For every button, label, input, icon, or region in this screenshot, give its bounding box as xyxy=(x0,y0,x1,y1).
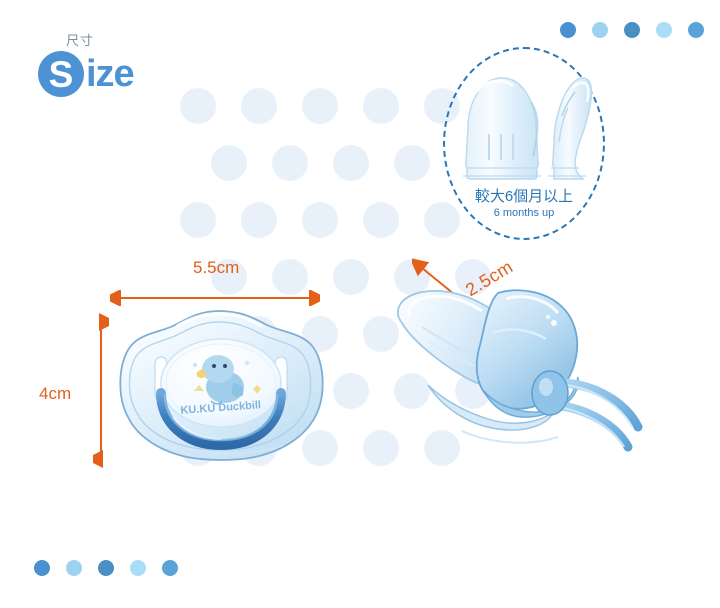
title-text: ize xyxy=(86,55,134,93)
background-dot xyxy=(333,373,369,409)
background-dot xyxy=(394,145,430,181)
decorative-dot-bottom-5 xyxy=(162,560,178,576)
decorative-dot-top-5 xyxy=(688,22,704,38)
background-dot xyxy=(363,88,399,124)
background-dot xyxy=(211,145,247,181)
decorative-dot-top-3 xyxy=(624,22,640,38)
decorative-dot-top-4 xyxy=(656,22,672,38)
pacifier-side-view xyxy=(388,265,648,490)
background-dot xyxy=(363,202,399,238)
dimension-label-width: 5.5cm xyxy=(193,258,239,278)
decorative-dot-bottom-2 xyxy=(66,560,82,576)
background-dot xyxy=(241,202,277,238)
nipple-duckbill-silhouette xyxy=(548,78,592,179)
background-dot xyxy=(424,202,460,238)
decorative-dot-bottom-4 xyxy=(130,560,146,576)
background-dot xyxy=(272,145,308,181)
background-dot xyxy=(333,145,369,181)
page-title: S ize xyxy=(38,51,134,97)
decorative-dot-top-2 xyxy=(592,22,608,38)
nipple-round-silhouette xyxy=(463,78,541,179)
decorative-dot-bottom-1 xyxy=(34,560,50,576)
background-dot xyxy=(241,88,277,124)
background-dot xyxy=(180,88,216,124)
title-letter-badge: S xyxy=(38,51,84,97)
background-dot xyxy=(302,88,338,124)
background-dot xyxy=(333,259,369,295)
background-dot xyxy=(180,202,216,238)
dimension-arrow-height xyxy=(93,313,109,468)
page-title-block: 尺寸 S ize xyxy=(38,34,134,97)
pacifier-front-view: KU.KU Duckbill xyxy=(115,305,330,485)
decorative-dots-bottom-left xyxy=(34,560,178,576)
page-subtitle-cn: 尺寸 xyxy=(66,34,134,47)
nipple-silhouettes xyxy=(455,72,595,184)
dimension-arrow-width xyxy=(110,290,320,306)
decorative-dots-top-right xyxy=(560,22,704,38)
infographic-canvas: 尺寸 S ize xyxy=(0,0,720,608)
background-dot xyxy=(302,202,338,238)
decorative-dot-top-1 xyxy=(560,22,576,38)
dimension-label-height: 4cm xyxy=(39,384,71,404)
decorative-dot-bottom-3 xyxy=(98,560,114,576)
